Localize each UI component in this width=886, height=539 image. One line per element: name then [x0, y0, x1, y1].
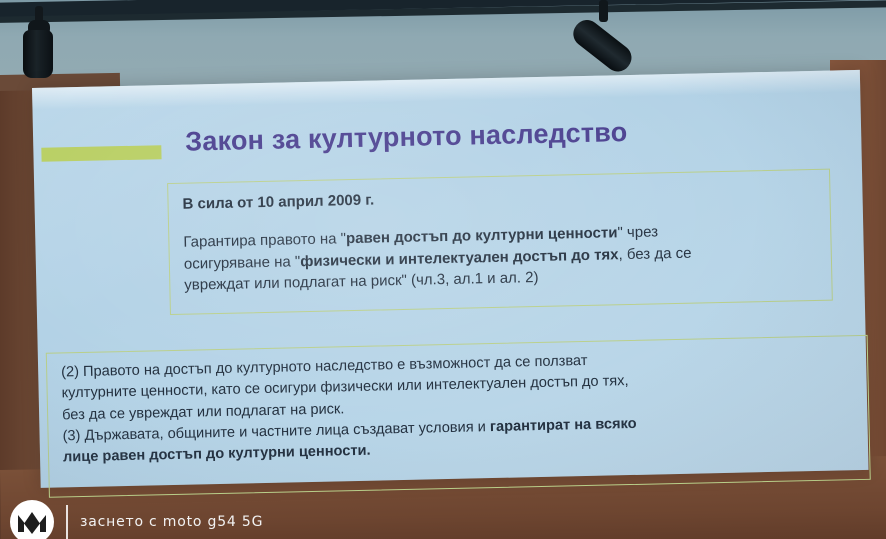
spotlight-stem — [599, 0, 608, 22]
watermark-text: заснето с moto g54 5G — [80, 514, 263, 530]
article-clauses-box: (2) Правото на достъп до културното насл… — [46, 335, 871, 498]
clause-3-line-1-bold: гарантират на всяко — [490, 416, 637, 435]
guarantee-line-1-bold: равен достъп до културни ценности — [346, 225, 618, 248]
guarantee-line-1-post: " чрез — [617, 224, 658, 242]
watermark-divider — [66, 505, 68, 539]
effective-date-box: В сила от 10 април 2009 г. Гарантира пра… — [167, 169, 833, 315]
page-title: Закон за културното наследство — [185, 117, 628, 158]
guarantee-line-1-pre: Гарантира правото на " — [183, 230, 346, 251]
photo-of-projected-slide: Закон за културното наследство В сила от… — [0, 0, 886, 539]
camera-watermark: заснето с moto g54 5G — [10, 500, 263, 539]
guarantee-line-2-post: , без да се — [618, 244, 691, 263]
title-accent-bar — [41, 145, 161, 162]
guarantee-line-2-pre: осигуряване на " — [184, 253, 301, 273]
projection-screen: Закон за културното наследство В сила от… — [32, 70, 869, 488]
track-light-can — [23, 30, 53, 78]
motorola-logo-icon — [10, 500, 54, 539]
